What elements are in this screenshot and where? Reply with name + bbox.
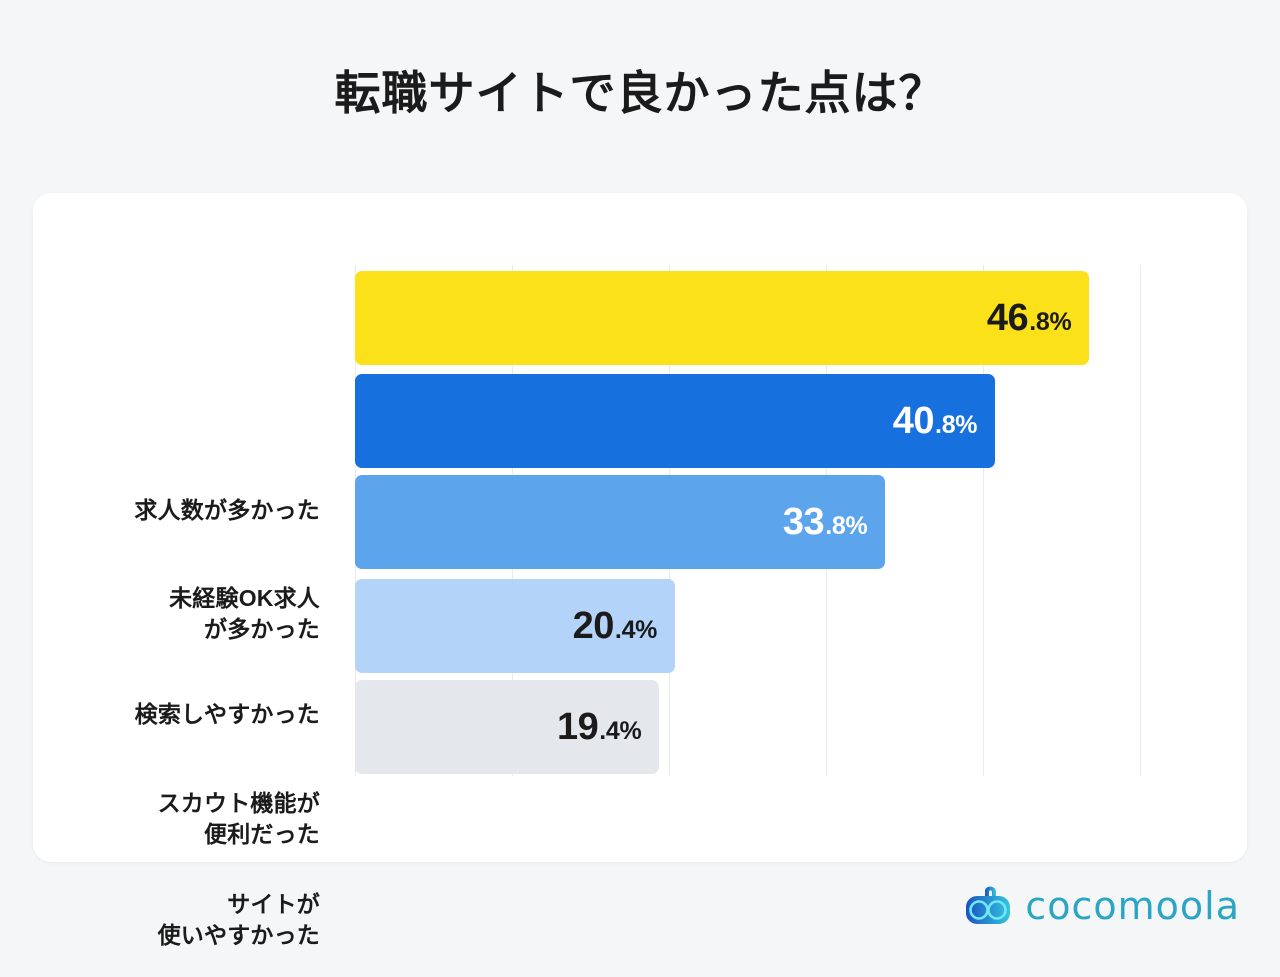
bar-value-1: 40 .8%	[893, 402, 977, 440]
category-line: 使いやすかった	[158, 920, 320, 951]
bar-value-fraction: .8%	[935, 413, 977, 438]
category-line: スカウト機能が	[158, 788, 320, 819]
bar-value-integer: 46	[987, 299, 1028, 337]
bar-value-integer: 40	[893, 402, 934, 440]
bar-value-fraction: .4%	[599, 719, 641, 744]
category-label-4: サイトが 使いやすかった	[30, 873, 320, 967]
bar-value-integer: 20	[573, 607, 614, 645]
bar-value-fraction: .4%	[615, 618, 657, 643]
bar-0[interactable]: 46 .8%	[355, 271, 1089, 365]
robot-binocular-icon	[965, 886, 1011, 926]
category-label-1: 未経験OK求人 が多かった	[30, 567, 320, 661]
brand-logo: cocomoola	[965, 884, 1240, 928]
bar-2[interactable]: 33 .8%	[355, 475, 885, 569]
category-label-3: スカウト機能が 便利だった	[30, 772, 320, 866]
plot-area: 46 .8% 40 .8% 33 .8%	[355, 259, 1171, 784]
bar-row: 33 .8%	[355, 475, 1171, 569]
bar-row: 20 .4%	[355, 579, 1171, 673]
bar-value-0: 46 .8%	[987, 299, 1071, 337]
category-line: 便利だった	[158, 819, 320, 850]
bar-row: 46 .8%	[355, 271, 1171, 365]
bar-value-4: 19 .4%	[557, 708, 641, 746]
bar-4[interactable]: 19 .4%	[355, 680, 659, 774]
bar-3[interactable]: 20 .4%	[355, 579, 675, 673]
bar-value-fraction: .8%	[1029, 310, 1071, 335]
category-axis: 求人数が多かった 未経験OK求人 が多かった 検索しやすかった スカウト機能が …	[33, 452, 355, 977]
bar-series: 46 .8% 40 .8% 33 .8%	[355, 259, 1171, 784]
bar-value-integer: 33	[783, 503, 824, 541]
bar-value-3: 20 .4%	[573, 607, 657, 645]
category-line: 検索しやすかった	[135, 699, 320, 730]
category-line: サイトが	[158, 889, 320, 920]
bar-value-2: 33 .8%	[783, 503, 867, 541]
bar-value-fraction: .8%	[825, 514, 867, 539]
category-line: が多かった	[169, 614, 320, 645]
page-title: 転職サイトで良かった点は？	[0, 66, 1280, 121]
category-label-2: 検索しやすかった	[30, 668, 320, 762]
bar-1[interactable]: 40 .8%	[355, 374, 995, 468]
brand-name: cocomoola	[1025, 884, 1240, 928]
category-line: 未経験OK求人	[169, 583, 320, 614]
category-label-0: 求人数が多かった	[30, 464, 320, 558]
chart-card: 46 .8% 40 .8% 33 .8%	[33, 193, 1247, 862]
bar-row: 40 .8%	[355, 374, 1171, 468]
bar-row: 19 .4%	[355, 680, 1171, 774]
bar-value-integer: 19	[557, 708, 598, 746]
category-line: 求人数が多かった	[134, 495, 320, 526]
